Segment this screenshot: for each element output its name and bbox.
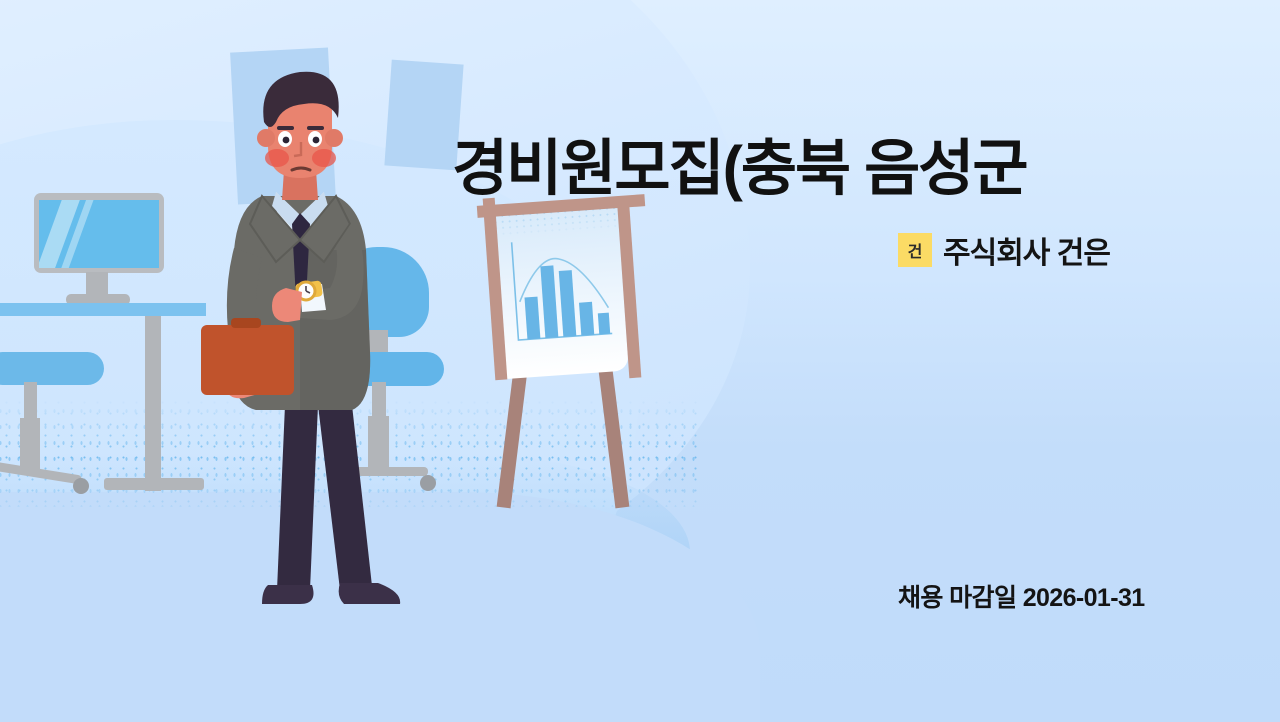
job-posting-poster: 경비원모집(충북 음성군 건 주식회사 건은 채용 마감일 2026-01-31: [0, 0, 1280, 722]
trouser-left: [277, 405, 318, 590]
shoe-left: [262, 585, 314, 604]
pupil-right: [313, 137, 320, 144]
eyebrow-left: [277, 126, 294, 130]
application-deadline: 채용 마감일 2026-01-31: [898, 578, 1145, 614]
briefcase-handle: [231, 318, 261, 328]
page-title: 경비원모집(충북 음성군: [452, 134, 1182, 202]
blush-left: [265, 149, 289, 167]
pupil-left: [283, 137, 290, 144]
ear-right: [325, 129, 343, 147]
eyebrow-right: [307, 126, 324, 130]
trouser-right: [318, 405, 372, 590]
ear-left: [257, 129, 275, 147]
blush-right: [312, 149, 336, 167]
shoe-right: [339, 583, 400, 604]
company-row: 건 주식회사 건은: [898, 228, 1110, 272]
company-logo-badge: 건: [898, 233, 932, 267]
briefcase: [201, 325, 294, 395]
company-name: 주식회사 건은: [943, 228, 1110, 272]
